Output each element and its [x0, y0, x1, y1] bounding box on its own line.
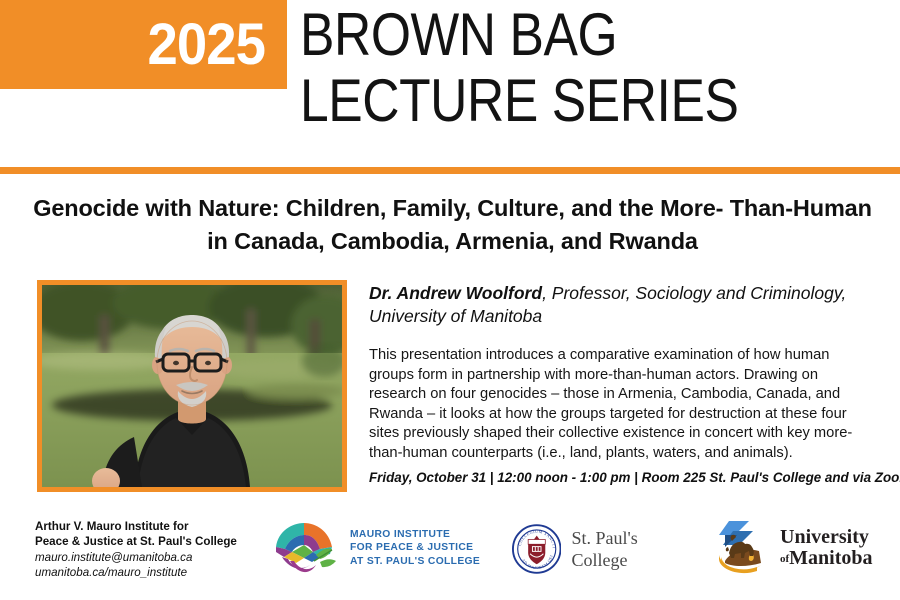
speaker-photo-frame	[37, 280, 347, 492]
event-details: Friday, October 31 | 12:00 noon - 1:00 p…	[369, 469, 889, 487]
poster-footer: Arthur V. Mauro Institute for Peace & Ju…	[0, 505, 900, 600]
mauro-wordmark: MAURO INSTITUTE FOR PEACE & JUSTICE AT S…	[350, 528, 480, 569]
uofm-bison-icon	[715, 517, 771, 579]
poster-header: 2025 BROWN BAG LECTURE SERIES	[0, 0, 900, 168]
university-of-manitoba-logo: University ofManitoba	[715, 517, 880, 581]
mauro-wordmark-line1: MAURO INSTITUTE	[350, 528, 480, 542]
lecture-title: Genocide with Nature: Children, Family, …	[30, 192, 875, 258]
speaker-photo-illustration	[42, 285, 342, 487]
uofm-wordmark-of: of	[780, 553, 789, 565]
uofm-wordmark-line1: University	[780, 527, 873, 548]
speaker-byline: Dr. Andrew Woolford, Professor, Sociolog…	[369, 282, 881, 328]
speaker-name: Dr. Andrew Woolford	[369, 283, 542, 303]
mauro-dome-icon	[268, 519, 342, 577]
institute-name-line1: Arthur V. Mauro Institute for	[35, 519, 275, 534]
lecture-title-line1: Genocide with Nature: Children, Family, …	[33, 195, 723, 221]
poster-canvas: 2025 BROWN BAG LECTURE SERIES Genocide w…	[0, 0, 900, 600]
series-title-line2: LECTURE SERIES	[300, 68, 807, 134]
institute-contact-block: Arthur V. Mauro Institute for Peace & Ju…	[35, 519, 275, 581]
institute-name-line2: Peace & Justice at St. Paul's College	[35, 534, 275, 549]
st-pauls-wordmark: St. Paul's College	[571, 527, 692, 571]
uofm-wordmark-manitoba: Manitoba	[789, 547, 872, 569]
uofm-wordmark-line2: ofManitoba	[780, 548, 873, 570]
institute-email[interactable]: mauro.institute@umanitoba.ca	[35, 550, 275, 565]
st-pauls-crest-icon: COLLEGIUM SANCTI PAULI WINNIPEG AD MAJOR…	[512, 523, 561, 575]
st-pauls-college-logo: COLLEGIUM SANCTI PAULI WINNIPEG AD MAJOR…	[512, 523, 692, 579]
mauro-institute-logo: MAURO INSTITUTE FOR PEACE & JUSTICE AT S…	[268, 519, 493, 581]
year-badge: 2025	[0, 0, 287, 89]
series-title-line1: BROWN BAG	[300, 2, 807, 68]
uofm-wordmark: University ofManitoba	[780, 527, 873, 570]
mauro-wordmark-line3: AT ST. PAUL'S COLLEGE	[350, 555, 480, 569]
series-title: BROWN BAG LECTURE SERIES	[300, 2, 890, 134]
year-label: 2025	[147, 16, 265, 74]
speaker-photo	[42, 285, 342, 487]
institute-website[interactable]: umanitoba.ca/mauro_institute	[35, 565, 275, 580]
mauro-wordmark-line2: FOR PEACE & JUSTICE	[350, 541, 480, 555]
abstract-text: This presentation introduces a comparati…	[369, 346, 877, 464]
header-divider-rule	[0, 167, 900, 174]
